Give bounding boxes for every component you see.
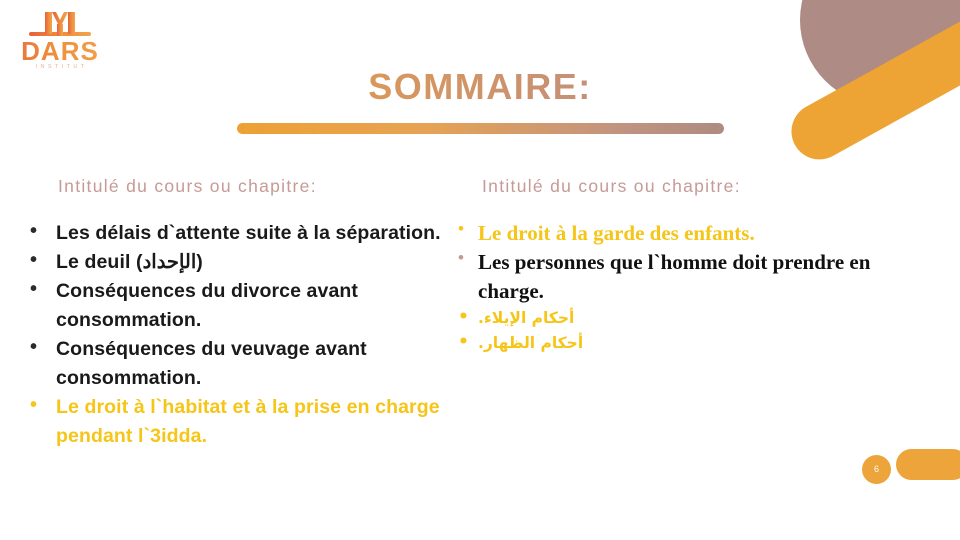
bullet-icon: •	[30, 395, 37, 415]
list-item-arabic: • أحكام الظهار.	[478, 331, 876, 356]
bullet-icon: •	[458, 334, 469, 351]
list-item-label: Le deuil (الإحداد)	[56, 251, 203, 273]
slide-title: SOMMAIRE:	[0, 66, 960, 108]
bullet-icon: •	[458, 309, 469, 326]
list-item: • Conséquences du divorce avant consomma…	[22, 277, 452, 335]
dars-institut-logo: DARS INSTITUT	[14, 6, 106, 68]
list-item-highlighted: • Le droit à la garde des enfants.	[456, 219, 876, 248]
logo-crown-icon	[25, 6, 95, 40]
list-item: • Le deuil (الإحداد)	[22, 248, 452, 277]
list-item: • Les délais d`attente suite à la sépara…	[22, 219, 452, 248]
slide-canvas: DARS INSTITUT SOMMAIRE: Intitulé du cour…	[0, 0, 960, 540]
list-item-highlighted: • Le droit à l`habitat et à la prise en …	[22, 393, 452, 451]
page-number-badge: 6	[862, 455, 891, 484]
right-column-heading: Intitulé du cours ou chapitre:	[482, 176, 741, 197]
logo-wordmark: DARS	[14, 40, 106, 62]
bullet-icon: •	[458, 249, 464, 266]
right-bullet-list: • Le droit à la garde des enfants. • Les…	[456, 219, 876, 356]
list-item: • Les personnes que l`homme doit prendre…	[456, 248, 876, 306]
list-item-label: Conséquences du divorce avant consommati…	[56, 280, 358, 331]
list-item: • Conséquences du veuvage avant consomma…	[22, 335, 452, 393]
list-item-label: Conséquences du veuvage avant consommati…	[56, 338, 367, 389]
title-underline-bar	[237, 123, 724, 134]
bullet-icon: •	[30, 221, 37, 241]
list-item-label: Le droit à la garde des enfants.	[478, 221, 755, 245]
list-item-label: Le droit à l`habitat et à la prise en ch…	[56, 396, 440, 447]
left-column-heading: Intitulé du cours ou chapitre:	[58, 176, 317, 197]
bullet-icon: •	[30, 250, 37, 270]
bullet-icon: •	[30, 337, 37, 357]
list-item-label: أحكام الإيلاء.	[478, 309, 574, 327]
list-item-label: Les délais d`attente suite à la séparati…	[56, 222, 441, 244]
list-item-arabic: • أحكام الإيلاء.	[478, 306, 876, 331]
bullet-icon: •	[30, 279, 37, 299]
list-item-label: أحكام الظهار.	[478, 334, 583, 352]
page-number-pill	[896, 449, 960, 480]
left-bullet-list: • Les délais d`attente suite à la sépara…	[22, 219, 452, 451]
list-item-label: Les personnes que l`homme doit prendre e…	[478, 250, 870, 303]
bullet-icon: •	[458, 220, 464, 237]
